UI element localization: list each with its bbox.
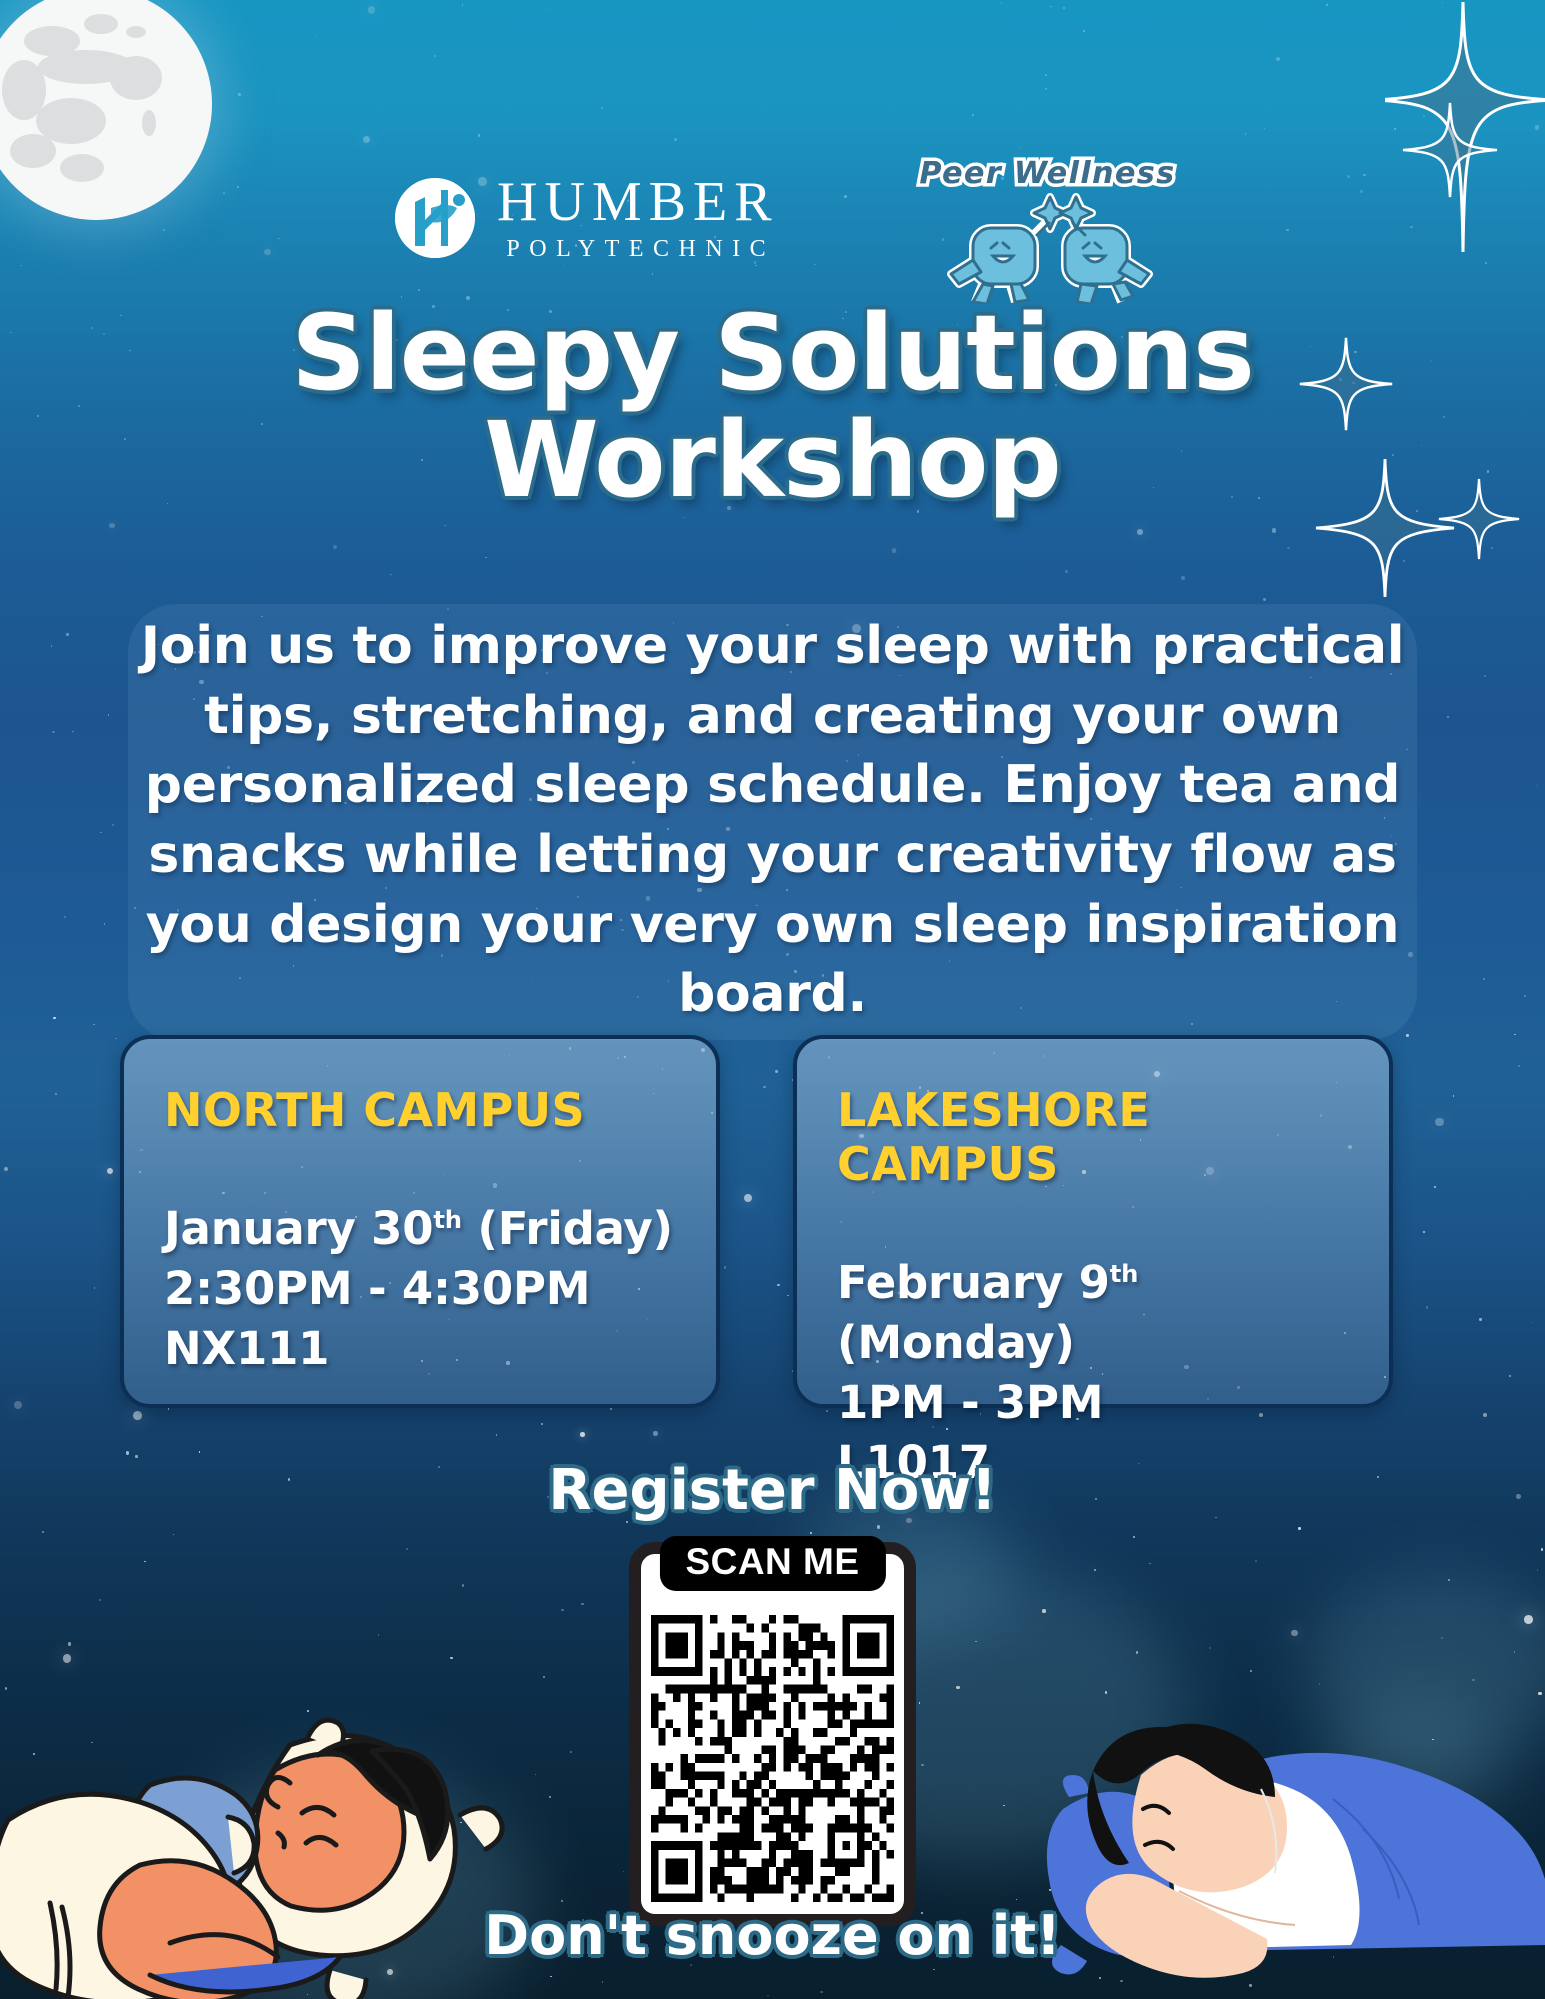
- description-block: Join us to improve your sleep with pract…: [100, 590, 1445, 1052]
- campus-date-suffix-lakeshore: th: [1110, 1259, 1139, 1288]
- footer-tagline: Don't snooze on it!: [0, 1904, 1545, 1967]
- humber-subwordmark: POLYTECHNIC: [500, 237, 775, 261]
- campus-time-lakeshore: 1PM - 3PM: [837, 1373, 1349, 1433]
- poster-canvas: HUMBER POLYTECHNIC Peer Wellness Peer We…: [0, 0, 1545, 1999]
- campus-card-north[interactable]: NORTH CAMPUS January 30th (Friday) 2:30P…: [120, 1035, 720, 1408]
- campus-details-lakeshore: February 9th (Monday) 1PM - 3PM L1017: [837, 1253, 1349, 1492]
- campus-date-north: January 30th (Friday): [164, 1199, 676, 1259]
- campus-weekday-north: (Friday): [477, 1202, 673, 1255]
- humber-wordmark: HUMBER: [497, 174, 779, 230]
- peer-wellness-mascots-icon: [915, 190, 1180, 304]
- register-now-heading: Register Now!: [0, 1458, 1545, 1523]
- campus-weekday-lakeshore: (Monday): [837, 1316, 1075, 1369]
- campus-details-north: January 30th (Friday) 2:30PM - 4:30PM NX…: [164, 1199, 676, 1379]
- campus-cards: NORTH CAMPUS January 30th (Friday) 2:30P…: [0, 1035, 1545, 1410]
- description-text: Join us to improve your sleep with pract…: [100, 590, 1445, 1052]
- campus-time-north: 2:30PM - 4:30PM: [164, 1259, 676, 1319]
- poster-title: Sleepy Solutions Workshop: [0, 300, 1545, 514]
- campus-date-suffix-north: th: [433, 1205, 462, 1234]
- qr-code-block[interactable]: [629, 1542, 916, 1926]
- title-line-2: Workshop: [0, 407, 1545, 514]
- campus-date-value-lakeshore: February 9: [837, 1256, 1110, 1309]
- campus-name-lakeshore: LAKESHORE CAMPUS: [837, 1083, 1349, 1191]
- poster-header: HUMBER POLYTECHNIC Peer Wellness Peer We…: [0, 78, 1545, 218]
- campus-date-lakeshore: February 9th (Monday): [837, 1253, 1349, 1373]
- peer-wellness-logo: Peer Wellness Peer Wellness: [915, 156, 1180, 304]
- humber-polytechnic-logo: HUMBER POLYTECHNIC: [395, 174, 779, 261]
- campus-room-north: NX111: [164, 1319, 676, 1379]
- campus-name-north: NORTH CAMPUS: [164, 1083, 676, 1137]
- scan-me-badge: SCAN ME: [659, 1536, 885, 1591]
- humber-mark-icon: [395, 178, 475, 258]
- campus-card-lakeshore[interactable]: LAKESHORE CAMPUS February 9th (Monday) 1…: [793, 1035, 1393, 1408]
- peer-wellness-wordmark: Peer Wellness: [915, 156, 1180, 191]
- title-line-1: Sleepy Solutions: [0, 300, 1545, 407]
- campus-date-value-north: January 30: [164, 1202, 433, 1255]
- qr-code-image[interactable]: [651, 1615, 894, 1902]
